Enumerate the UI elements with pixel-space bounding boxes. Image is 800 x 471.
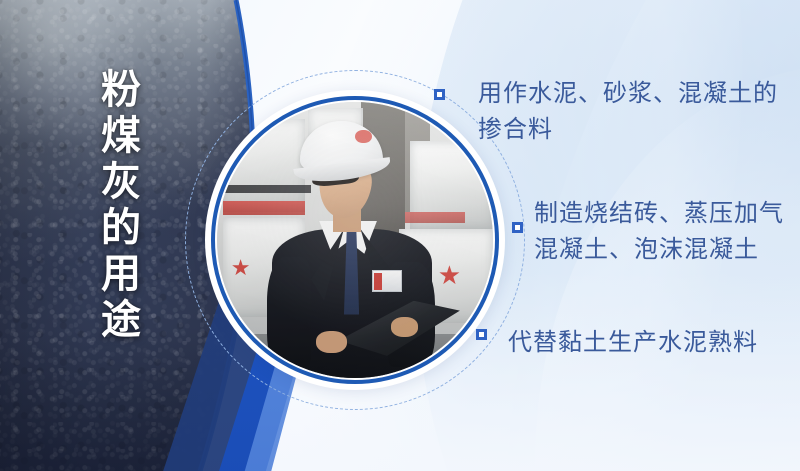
infographic-poster: 粉煤灰的用途 ★ ★ ★: [0, 0, 800, 471]
page-title: 粉煤灰的用途: [84, 68, 142, 344]
square-bullet-icon: [512, 222, 523, 233]
engineer-photo-circle: ★ ★ ★: [205, 90, 505, 390]
square-bullet-icon: [434, 89, 445, 100]
photo-shading: [217, 102, 493, 378]
engineer-photo: ★ ★ ★: [217, 102, 493, 378]
usage-item-text-1: 用作水泥、砂浆、混凝土的 掺合料: [478, 76, 800, 149]
usage-item-text-2: 制造烧结砖、蒸压加气 混凝土、泡沫混凝土: [534, 196, 800, 269]
usage-item-text-3: 代替黏土生产水泥熟料: [508, 325, 800, 361]
square-bullet-icon: [476, 329, 487, 340]
